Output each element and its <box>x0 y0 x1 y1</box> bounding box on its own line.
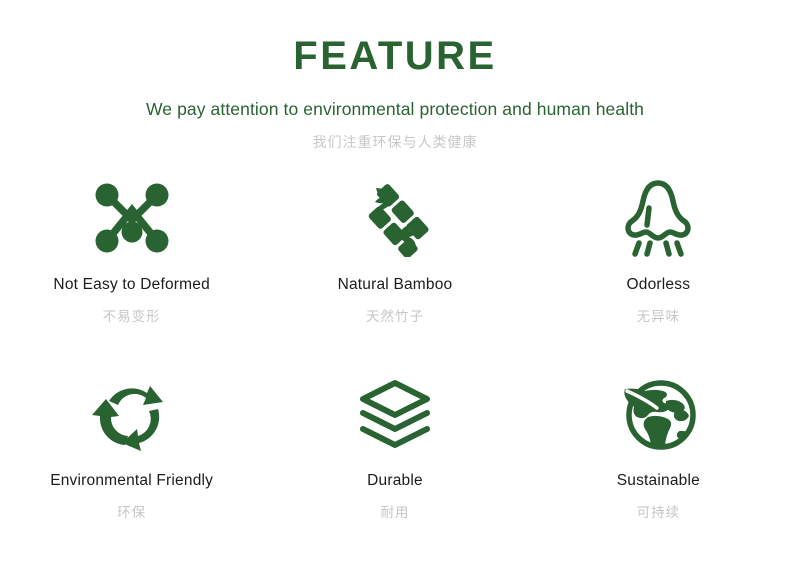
feature-section: FEATURE We pay attention to environmenta… <box>0 0 790 576</box>
feature-label-en: Environmental Friendly <box>50 472 213 490</box>
feature-label-cn: 无异味 <box>637 305 681 325</box>
molecule-lattice-icon <box>93 172 171 264</box>
feature-label-en: Odorless <box>627 276 691 294</box>
layers-icon <box>355 368 435 460</box>
subtitle-chinese: 我们注重环保与人类健康 <box>0 132 790 152</box>
globe-leaf-icon <box>617 368 699 460</box>
feature-label-en: Natural Bamboo <box>338 276 453 294</box>
feature-label-cn: 环保 <box>117 501 146 521</box>
feature-item-sustainable: Sustainable 可持续 <box>527 362 790 558</box>
feature-label-cn: 不易变形 <box>103 305 161 325</box>
bamboo-icon <box>356 172 434 264</box>
feature-label-cn: 可持续 <box>637 501 681 521</box>
feature-item-not-easy-to-deformed: Not Easy to Deformed 不易变形 <box>0 166 263 362</box>
feature-item-natural-bamboo: Natural Bamboo 天然竹子 <box>263 166 526 362</box>
feature-label-en: Durable <box>367 472 423 490</box>
recycle-icon <box>92 368 172 460</box>
feature-label-en: Sustainable <box>617 472 700 490</box>
feature-item-environmental-friendly: Environmental Friendly 环保 <box>0 362 263 558</box>
feature-item-durable: Durable 耐用 <box>263 362 526 558</box>
nose-icon <box>619 172 697 264</box>
feature-label-cn: 耐用 <box>380 501 409 521</box>
feature-item-odorless: Odorless 无异味 <box>527 166 790 362</box>
section-header: FEATURE We pay attention to environmenta… <box>0 0 790 152</box>
page-title: FEATURE <box>0 34 790 78</box>
feature-label-cn: 天然竹子 <box>366 305 424 325</box>
feature-grid: Not Easy to Deformed 不易变形 <box>0 166 790 558</box>
subtitle-english: We pay attention to environmental protec… <box>0 99 790 120</box>
feature-label-en: Not Easy to Deformed <box>53 276 209 294</box>
